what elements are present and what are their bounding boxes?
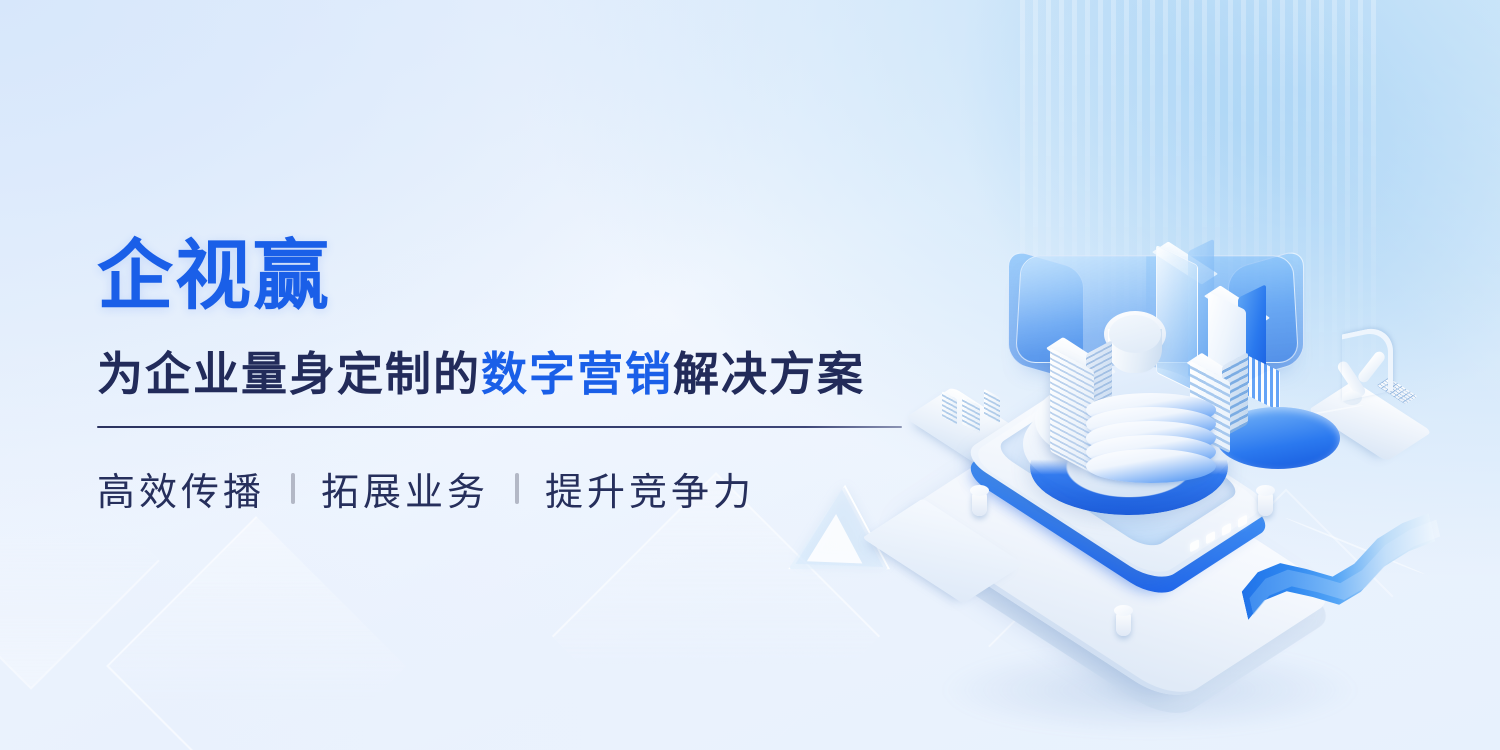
corner-peg-left [972, 490, 987, 516]
corner-peg-bottom [1116, 610, 1131, 636]
hero-illustration [880, 215, 1480, 695]
city-cluster [1030, 251, 1250, 471]
silo-rim [1109, 315, 1161, 353]
chevron-shape-2 [106, 516, 406, 750]
headline-highlight: 数字营销 [481, 347, 673, 401]
tagline-separator-2 [515, 473, 519, 504]
divider-rule [97, 426, 902, 428]
ribbon-back [1239, 510, 1455, 649]
hero-copy: 企视赢 为企业量身定制的数字营销解决方案 高效传播 拓展业务 提升竞争力 [97, 238, 927, 516]
corner-peg-right [1258, 490, 1273, 516]
pipe-arc [1342, 324, 1393, 402]
tagline-row: 高效传播 拓展业务 提升竞争力 [97, 461, 927, 516]
layered-disc-stack [1086, 393, 1216, 479]
tagline-item-2: 拓展业务 [321, 461, 489, 516]
headline-after: 解决方案 [673, 347, 865, 401]
headline-before: 为企业量身定制的 [97, 347, 481, 401]
headline: 为企业量身定制的数字营销解决方案 [97, 350, 927, 398]
brand-title: 企视赢 [97, 238, 927, 314]
disc-5 [1086, 449, 1216, 483]
tagline-separator-1 [291, 473, 295, 504]
tagline-item-1: 高效传播 [97, 461, 265, 516]
hero-banner: 企视赢 为企业量身定制的数字营销解决方案 高效传播 拓展业务 提升竞争力 [0, 0, 1500, 750]
tagline-item-3: 提升竞争力 [545, 461, 755, 516]
